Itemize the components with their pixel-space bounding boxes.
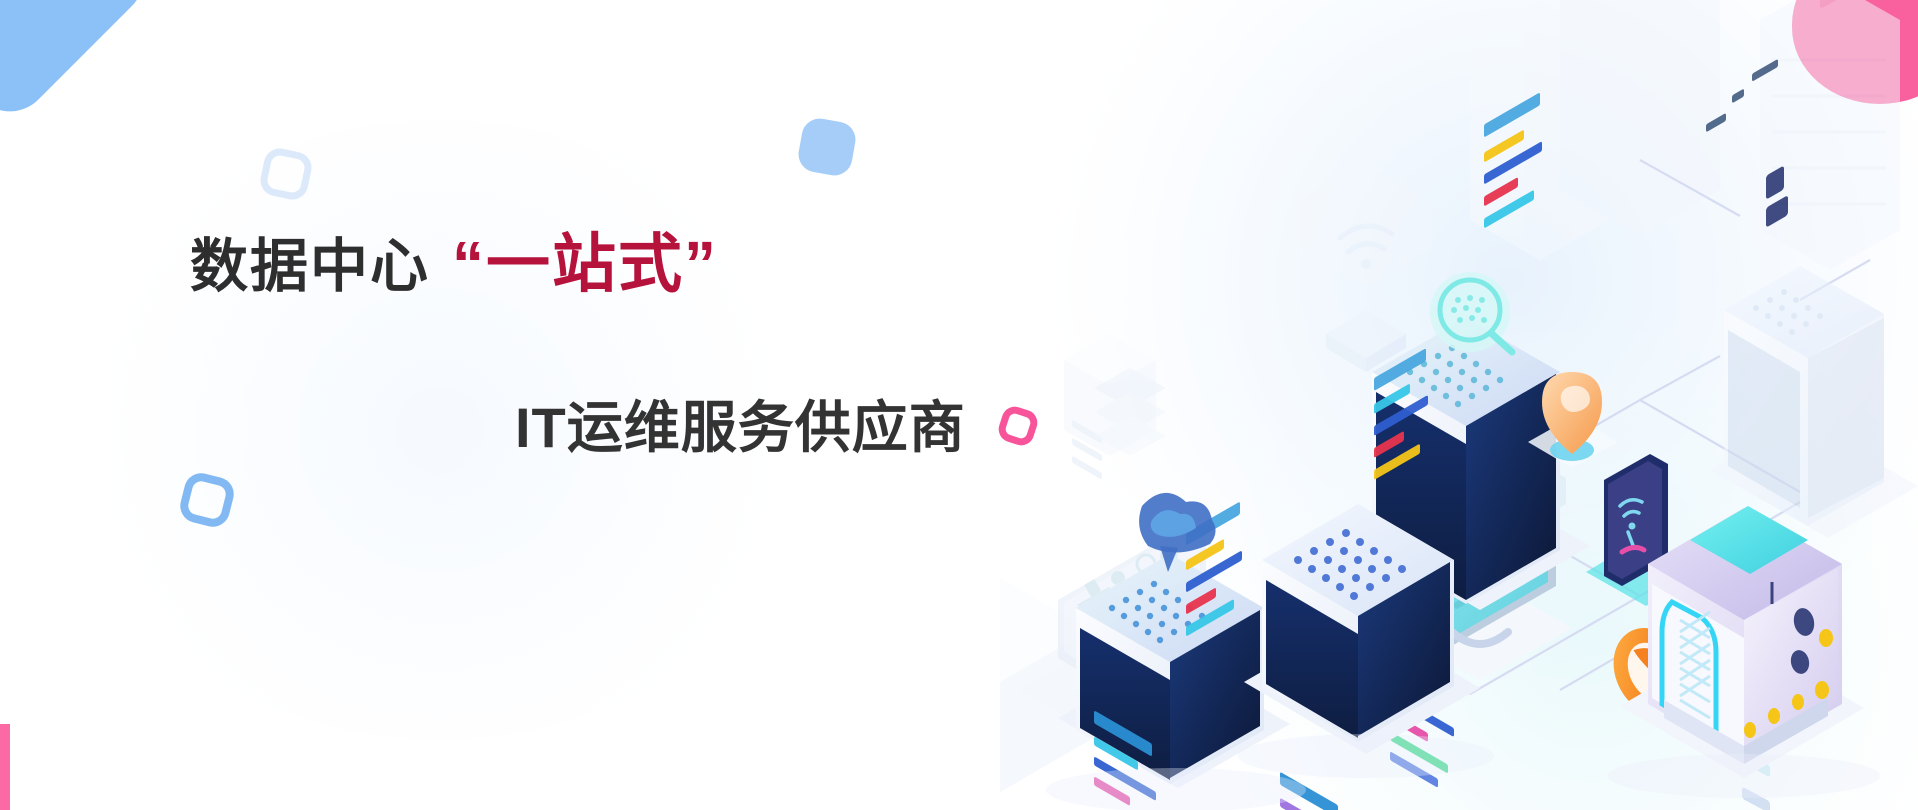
server-rack-back-center <box>1356 92 1590 788</box>
accent-ring-pale-blue <box>258 146 315 203</box>
corner-blue-shape <box>0 0 160 128</box>
corner-pink-blob <box>1792 0 1918 104</box>
ghost-cube <box>1000 572 1090 798</box>
headline-line-1-red: “一站式” <box>452 228 718 300</box>
accent-ring-blue <box>177 470 238 531</box>
headline-line-2: IT运维服务供应商 <box>515 400 966 456</box>
server-rack-far-right <box>1710 0 1918 810</box>
background-wash-lower-right <box>1180 330 1918 810</box>
headline-line-1-dark: 数据中心 <box>190 234 430 299</box>
magnifier-icon <box>1430 272 1512 352</box>
server-rack-front-right <box>1244 348 1480 810</box>
cloud-icon <box>1139 493 1215 572</box>
headline-line-1: 数据中心“一站式” <box>190 232 966 296</box>
orange-swirl <box>1599 614 1706 729</box>
monitor-left <box>1020 526 1240 754</box>
accent-square-blue <box>796 116 859 179</box>
location-pin <box>1528 372 1618 468</box>
connection-lines <box>1120 160 1870 700</box>
server-rack-front-left <box>1058 493 1290 806</box>
headline-block: 数据中心“一站式” IT运维服务供应商 <box>190 232 966 456</box>
ghost-cube-stack <box>1094 368 1166 456</box>
edge-pink-bar <box>0 724 10 810</box>
hero-banner: 数据中心“一站式” IT运维服务供应商 <box>0 0 1918 810</box>
tablet-wifi <box>1586 454 1700 606</box>
cooling-unit <box>1620 59 1864 778</box>
ghost-small-rack <box>1064 334 1156 480</box>
monitor-center <box>1390 456 1572 680</box>
isometric-data-center-illustration <box>1000 0 1918 810</box>
accent-ring-pink <box>995 403 1040 448</box>
ghost-diamond <box>1326 310 1406 372</box>
ghost-wifi-card <box>1300 162 1432 286</box>
background-wash-right <box>1020 0 1918 680</box>
